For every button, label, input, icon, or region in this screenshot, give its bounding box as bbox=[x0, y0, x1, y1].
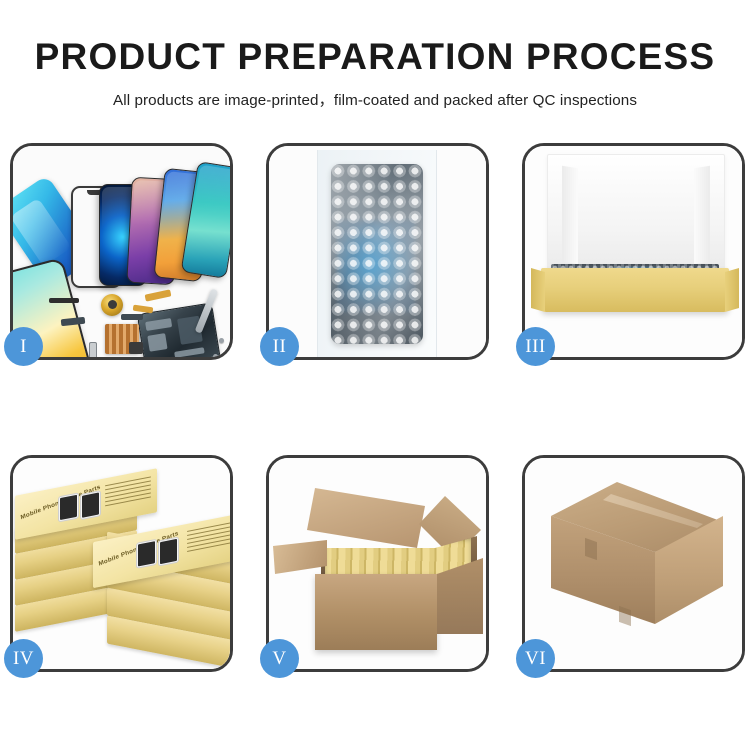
step-badge-3: III bbox=[516, 327, 555, 366]
step-badge-5: V bbox=[260, 639, 299, 678]
process-step-panel-3[interactable]: III bbox=[522, 143, 745, 360]
box-spec-list bbox=[187, 522, 230, 555]
component-chip bbox=[147, 333, 167, 352]
process-step-panel-4[interactable]: Mobile Phone Spare Parts bbox=[10, 455, 233, 672]
photo-stage bbox=[525, 458, 742, 669]
photo-bubble-wrap bbox=[269, 146, 486, 357]
photo-stage bbox=[13, 146, 230, 357]
photo-stage bbox=[269, 458, 486, 669]
step-badge-6: VI bbox=[516, 639, 555, 678]
carton-seam bbox=[619, 606, 631, 626]
box-phone-image bbox=[59, 494, 78, 522]
step-badge-2: II bbox=[260, 327, 299, 366]
carton-front-face bbox=[315, 574, 437, 650]
white-box-lid bbox=[547, 154, 725, 280]
step-badge-1: I bbox=[4, 327, 43, 366]
carton-seam bbox=[585, 538, 597, 560]
step-badge-4: IV bbox=[4, 639, 43, 678]
yellow-box-tray bbox=[541, 268, 729, 312]
photo-stage: Mobile Phone Spare Parts bbox=[13, 458, 230, 669]
box-spec-list bbox=[105, 476, 151, 509]
photo-sealed-carton bbox=[525, 458, 742, 669]
connector-part bbox=[89, 342, 97, 357]
page-title: PRODUCT PREPARATION PROCESS bbox=[0, 0, 750, 78]
component-chip bbox=[145, 318, 172, 331]
flex-cable-part bbox=[61, 317, 86, 326]
photo-open-tray-box bbox=[525, 146, 742, 357]
box-phone-image bbox=[81, 491, 100, 519]
flex-cable-part bbox=[145, 289, 172, 301]
box-phone-image bbox=[137, 540, 156, 568]
carton-flap-back bbox=[307, 488, 425, 548]
carton-flap-left bbox=[273, 540, 327, 574]
retail-box-stack: Mobile Phone Spare Parts bbox=[15, 470, 230, 666]
plastic-sheen bbox=[331, 164, 423, 344]
camera-module-part bbox=[129, 342, 143, 354]
photo-phone-parts bbox=[13, 146, 230, 357]
screw-part bbox=[213, 354, 218, 357]
page-subtitle: All products are image-printed，film-coat… bbox=[0, 78, 750, 110]
process-step-panel-6[interactable]: VI bbox=[522, 455, 745, 672]
bubble-wrapped-product bbox=[331, 164, 423, 344]
lid-flap-right bbox=[694, 166, 710, 265]
box-phone-image bbox=[159, 538, 178, 566]
flex-cable-part bbox=[121, 314, 143, 320]
photo-stage bbox=[269, 146, 486, 357]
speaker-coil-part bbox=[101, 294, 123, 316]
screw-part bbox=[227, 350, 230, 355]
page-header: PRODUCT PREPARATION PROCESS All products… bbox=[0, 0, 750, 110]
photo-open-carton bbox=[269, 458, 486, 669]
process-step-grid: I II bbox=[10, 143, 745, 672]
flex-cable-part bbox=[133, 305, 154, 314]
earpiece-part bbox=[49, 298, 79, 303]
screw-part bbox=[219, 338, 224, 343]
process-step-panel-5[interactable]: V bbox=[266, 455, 489, 672]
process-step-panel-2[interactable]: II bbox=[266, 143, 489, 360]
photo-stage bbox=[525, 146, 742, 357]
photo-box-stack: Mobile Phone Spare Parts bbox=[13, 458, 230, 669]
lid-flap-left bbox=[562, 166, 578, 265]
process-step-panel-1[interactable]: I bbox=[10, 143, 233, 360]
component-chip bbox=[174, 347, 205, 357]
